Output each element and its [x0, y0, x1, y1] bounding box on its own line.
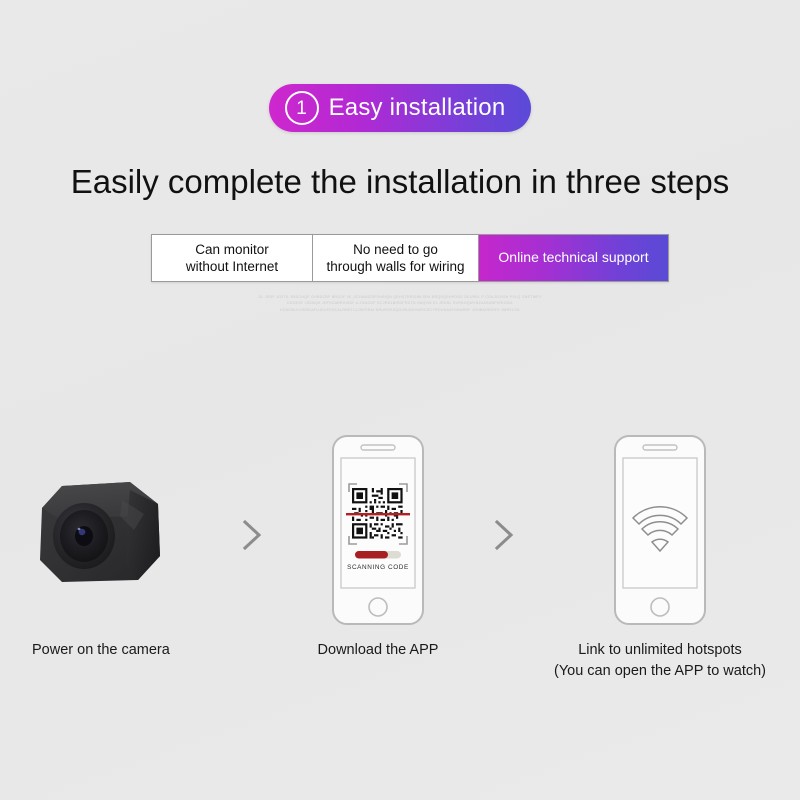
chevron-right-icon — [240, 518, 264, 552]
fine-print-block: OL JRDF JG2TIL R4DCHQF GHRDCBF BRSOF JK_… — [0, 294, 800, 313]
feature-strip: Can monitor without Internet No need to … — [151, 234, 669, 282]
feature-line-1: Online technical support — [498, 249, 648, 267]
step-visual-phone-qr: SCANNING CODE — [285, 430, 471, 630]
step-power-on-camera: Power on the camera — [0, 430, 205, 690]
step-caption-line: Link to unlimited hotspots — [520, 640, 800, 661]
step-link-hotspots: Link to unlimited hotspots (You can open… — [520, 430, 800, 690]
phone-wifi-icon — [600, 432, 720, 628]
scanning-code-label: SCANNING CODE — [347, 564, 409, 571]
step-caption: Link to unlimited hotspots (You can open… — [520, 640, 800, 682]
step-caption: Power on the camera — [0, 640, 205, 661]
step-visual-camera — [0, 430, 205, 630]
chevron-right-icon — [492, 518, 516, 552]
step-download-app: SCANNING CODE Download the APP — [285, 430, 471, 690]
feature-line-1: Can monitor — [195, 241, 269, 258]
step-badge: 1 Easy installation — [269, 84, 532, 132]
feature-cell-no-wiring: No need to go through walls for wiring — [313, 235, 479, 281]
feature-cell-no-internet: Can monitor without Internet — [152, 235, 313, 281]
steps-row: Power on the camera — [0, 430, 800, 690]
step-caption-line: Power on the camera — [32, 640, 205, 661]
mini-camera-icon — [18, 460, 188, 600]
step-number: 1 — [285, 91, 319, 125]
feature-line-2: through walls for wiring — [326, 258, 464, 275]
step-caption-line: Download the APP — [285, 640, 471, 661]
feature-line-1: No need to go — [353, 241, 438, 258]
step-visual-phone-wifi — [520, 430, 800, 630]
feature-cell-online-support: Online technical support — [479, 235, 668, 281]
product-infographic-page: 1 Easy installation Easily complete the … — [0, 0, 800, 800]
step-caption-line: (You can open the APP to watch) — [520, 661, 800, 682]
phone-qr-scan-icon: SCANNING CODE — [318, 432, 438, 628]
step-caption: Download the APP — [285, 640, 471, 661]
feature-line-2: without Internet — [186, 258, 278, 275]
page-title: Easily complete the installation in thre… — [0, 163, 800, 201]
fine-print-line: KDNOKUVONSDAFUJEUFDSCALRBETCLONTIRAI NRU… — [0, 307, 800, 313]
step-badge-label: Easy installation — [329, 94, 506, 122]
step-badge-container: 1 Easy installation — [0, 84, 800, 132]
